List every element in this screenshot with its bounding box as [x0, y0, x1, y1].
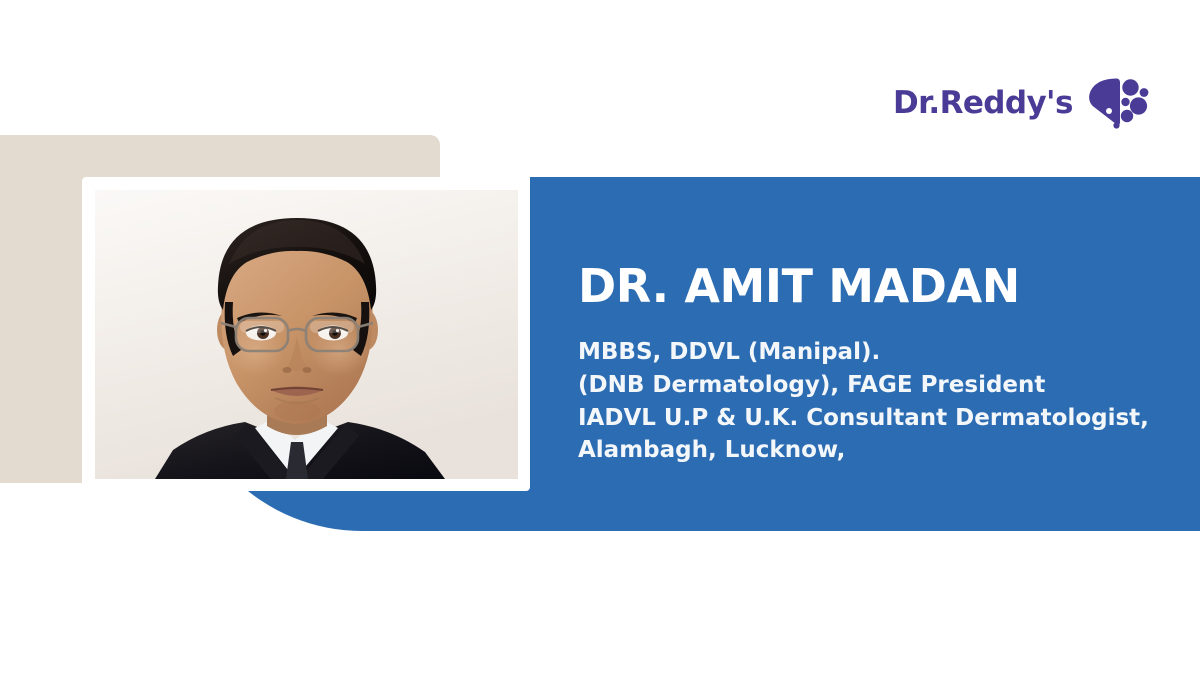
- speaker-portrait-photo: [95, 190, 518, 479]
- credential-line-1: MBBS, DDVL (Manipal).: [578, 336, 1178, 369]
- reddys-droplet-bubbles-icon: [1087, 75, 1149, 131]
- credential-line-2: (DNB Dermatology), FAGE President: [578, 369, 1178, 402]
- brand-wordmark: Dr.Reddy's: [893, 88, 1073, 119]
- speaker-announcement-card: Dr.Reddy's DR. AMIT MADAN MBBS, DDVL (Ma…: [0, 0, 1200, 675]
- speaker-credentials: MBBS, DDVL (Manipal). (DNB Dermatology),…: [578, 336, 1178, 467]
- speaker-details: DR. AMIT MADAN MBBS, DDVL (Manipal). (DN…: [578, 262, 1178, 467]
- portrait-illustration: [95, 190, 518, 479]
- speaker-name: DR. AMIT MADAN: [578, 262, 1178, 310]
- credential-line-3: IADVL U.P & U.K. Consultant Dermatologis…: [578, 402, 1178, 435]
- brand-logo: Dr.Reddy's: [893, 72, 1133, 134]
- credential-line-4: Alambagh, Lucknow,: [578, 434, 1178, 467]
